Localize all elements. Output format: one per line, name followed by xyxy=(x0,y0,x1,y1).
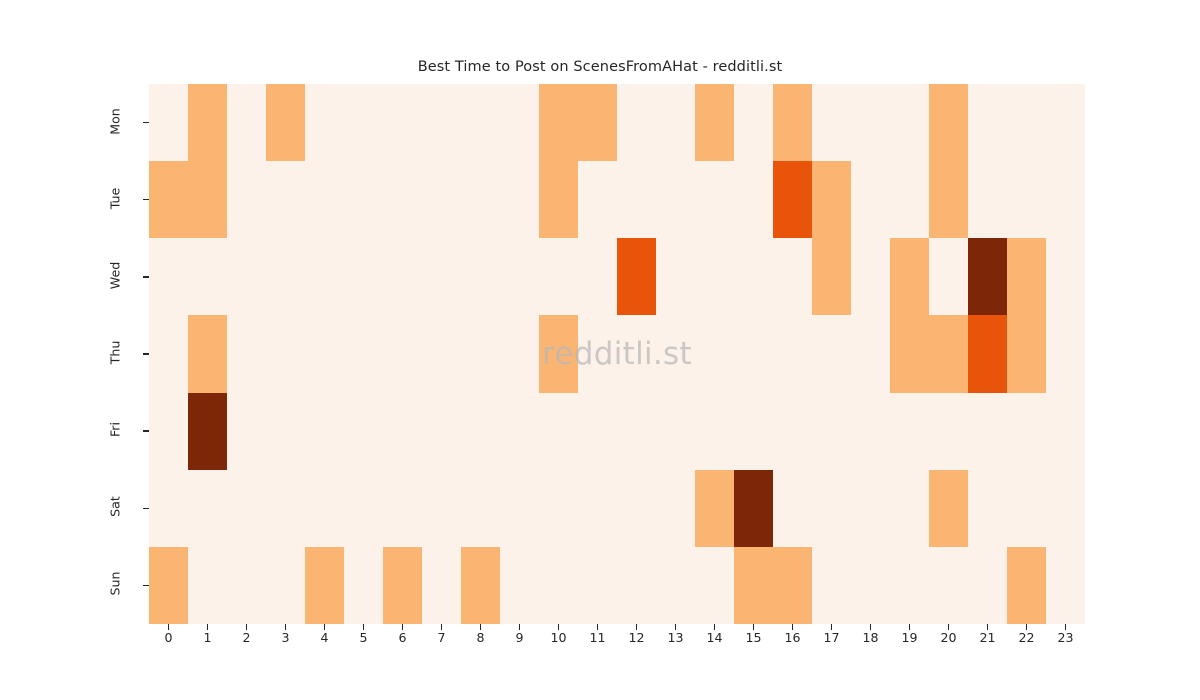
heatmap-row-fri xyxy=(149,393,1085,470)
x-tick-label-2: 2 xyxy=(227,630,266,645)
heatmap-cell xyxy=(149,161,188,238)
heatmap-cell xyxy=(188,161,227,238)
x-tick-label-13: 13 xyxy=(656,630,695,645)
x-tick-label-20: 20 xyxy=(929,630,968,645)
heatmap-row-mon xyxy=(149,84,1085,161)
heatmap-cell xyxy=(773,161,812,238)
heatmap-cell xyxy=(968,315,1007,392)
x-tick-label-16: 16 xyxy=(773,630,812,645)
x-tick-label-10: 10 xyxy=(539,630,578,645)
x-tick-label-23: 23 xyxy=(1046,630,1085,645)
heatmap-cell xyxy=(929,84,968,161)
x-tick-label-14: 14 xyxy=(695,630,734,645)
heatmap-cell xyxy=(812,161,851,238)
x-tick-label-17: 17 xyxy=(812,630,851,645)
heatmap-cell xyxy=(383,547,422,624)
heatmap-cell xyxy=(968,238,1007,315)
y-tick-label-wed: Wed xyxy=(108,255,123,295)
y-tick-label-tue: Tue xyxy=(108,178,123,218)
x-tick-label-19: 19 xyxy=(890,630,929,645)
x-tick-label-4: 4 xyxy=(305,630,344,645)
y-tick-label-sat: Sat xyxy=(108,487,123,527)
heatmap-cell xyxy=(890,238,929,315)
x-tick-label-11: 11 xyxy=(578,630,617,645)
x-tick-label-18: 18 xyxy=(851,630,890,645)
heatmap-plot-area: redditli.st xyxy=(149,84,1085,624)
x-tick-label-7: 7 xyxy=(422,630,461,645)
x-tick-label-5: 5 xyxy=(344,630,383,645)
heatmap-cell xyxy=(539,84,578,161)
heatmap-cell xyxy=(539,161,578,238)
x-tick-label-9: 9 xyxy=(500,630,539,645)
x-tick-label-21: 21 xyxy=(968,630,1007,645)
x-tick-label-1: 1 xyxy=(188,630,227,645)
x-tick-label-22: 22 xyxy=(1007,630,1046,645)
x-tick-label-3: 3 xyxy=(266,630,305,645)
heatmap-row-sun xyxy=(149,547,1085,624)
heatmap-cell xyxy=(266,84,305,161)
heatmap-cell xyxy=(773,84,812,161)
heatmap-figure: Best Time to Post on ScenesFromAHat - re… xyxy=(0,0,1200,700)
y-tick-label-mon: Mon xyxy=(108,101,123,141)
heatmap-cell xyxy=(890,315,929,392)
x-tick-label-8: 8 xyxy=(461,630,500,645)
heatmap-cell xyxy=(695,84,734,161)
heatmap-cell xyxy=(812,238,851,315)
heatmap-cell xyxy=(578,84,617,161)
heatmap-cell xyxy=(305,547,344,624)
heatmap-cell xyxy=(149,547,188,624)
x-tick-label-6: 6 xyxy=(383,630,422,645)
y-tick-label-thu: Thu xyxy=(108,333,123,373)
heatmap-cell xyxy=(773,547,812,624)
x-tick-label-0: 0 xyxy=(149,630,188,645)
y-tick-label-fri: Fri xyxy=(108,410,123,450)
heatmap-cell xyxy=(188,393,227,470)
heatmap-cell xyxy=(188,315,227,392)
heatmap-cell xyxy=(188,84,227,161)
x-tick-label-12: 12 xyxy=(617,630,656,645)
heatmap-cell xyxy=(461,547,500,624)
heatmap-cell xyxy=(1007,315,1046,392)
heatmap-cell xyxy=(695,470,734,547)
heatmap-cell xyxy=(929,470,968,547)
heatmap-cell xyxy=(1007,547,1046,624)
heatmap-cell xyxy=(1007,238,1046,315)
heatmap-row-wed xyxy=(149,238,1085,315)
page-title: Best Time to Post on ScenesFromAHat - re… xyxy=(0,59,1200,75)
x-tick-label-15: 15 xyxy=(734,630,773,645)
heatmap-cell xyxy=(929,161,968,238)
heatmap-row-tue xyxy=(149,161,1085,238)
heatmap-cell xyxy=(617,238,656,315)
y-tick-label-sun: Sun xyxy=(108,564,123,604)
heatmap-row-sat xyxy=(149,470,1085,547)
heatmap-cell xyxy=(734,470,773,547)
heatmap-row-thu xyxy=(149,315,1085,392)
heatmap-cell xyxy=(539,315,578,392)
heatmap-cell xyxy=(929,315,968,392)
heatmap-cell xyxy=(734,547,773,624)
